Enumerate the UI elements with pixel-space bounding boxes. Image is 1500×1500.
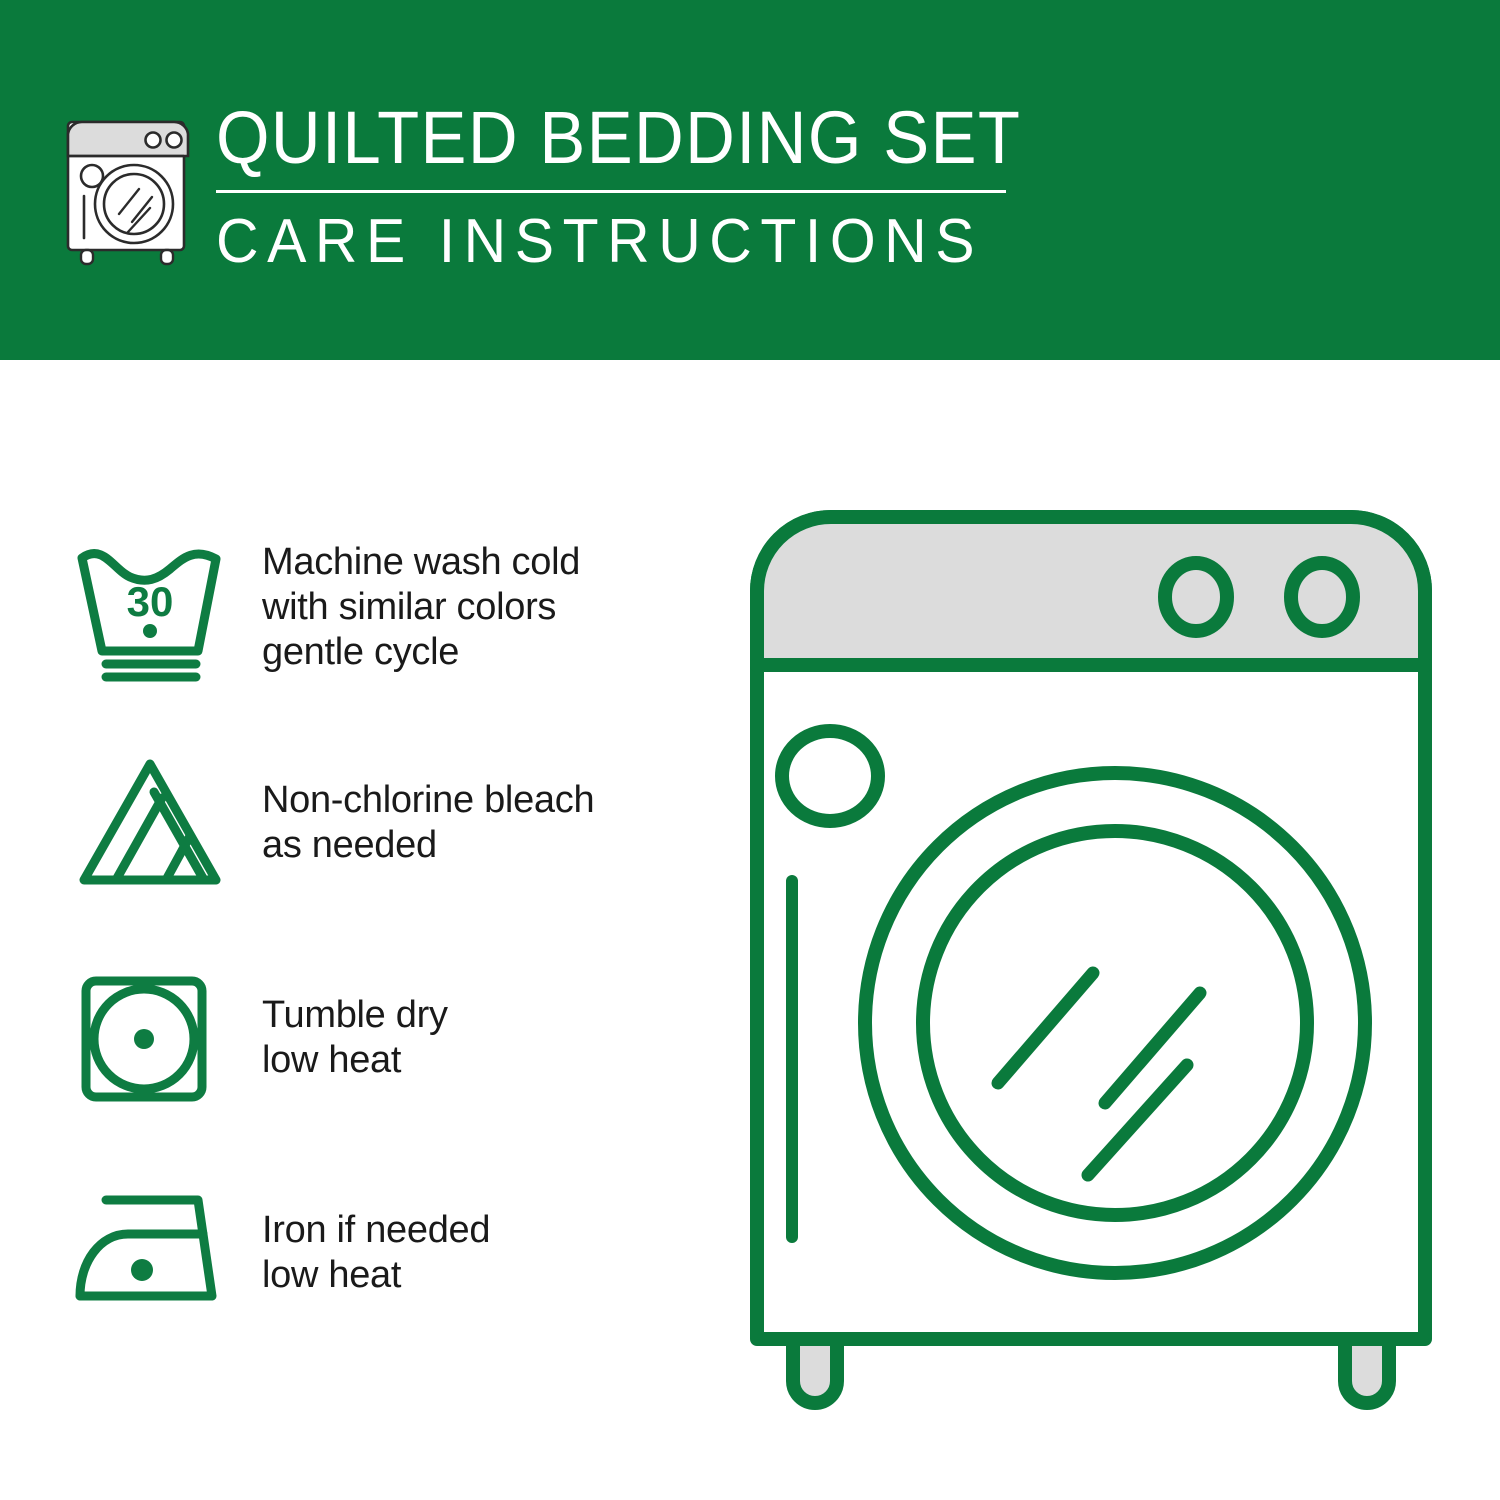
care-label-machine-wash: Machine wash cold with similar colors ge… bbox=[262, 540, 580, 675]
care-label-tumble-dry: Tumble dry low heat bbox=[262, 993, 448, 1083]
washing-machine-illustration bbox=[735, 495, 1455, 1435]
non-chlorine-bleach-triangle-icon bbox=[70, 740, 240, 905]
header-title-group: QUILTED BEDDING SET CARE INSTRUCTIONS bbox=[216, 98, 1082, 277]
header-content: QUILTED BEDDING SET CARE INSTRUCTIONS bbox=[62, 98, 1082, 277]
care-row-iron: Iron if needed low heat bbox=[70, 1145, 710, 1360]
care-row-bleach: Non-chlorine bleach as needed bbox=[70, 715, 710, 930]
wash-tub-30-gentle-icon: 30 bbox=[70, 525, 240, 690]
care-instruction-list: 30 Machine wash cold with similar colors… bbox=[70, 500, 710, 1360]
care-line: with similar colors bbox=[262, 585, 580, 630]
care-row-tumble-dry: Tumble dry low heat bbox=[70, 930, 710, 1145]
wash-temperature-value: 30 bbox=[127, 578, 174, 625]
tumble-dry-low-heat-icon bbox=[70, 955, 240, 1120]
washing-machine-icon bbox=[62, 104, 194, 266]
iron-low-heat-icon bbox=[70, 1170, 240, 1335]
care-line: as needed bbox=[262, 823, 594, 868]
care-line: gentle cycle bbox=[262, 630, 580, 675]
indicator-circle bbox=[782, 731, 878, 821]
care-line: Tumble dry bbox=[262, 993, 448, 1038]
door-inner-ring bbox=[923, 831, 1307, 1215]
care-line: Machine wash cold bbox=[262, 540, 580, 585]
care-line: low heat bbox=[262, 1038, 448, 1083]
care-line: Iron if needed bbox=[262, 1208, 490, 1253]
care-label-iron: Iron if needed low heat bbox=[262, 1208, 490, 1298]
care-row-machine-wash: 30 Machine wash cold with similar colors… bbox=[70, 500, 710, 715]
care-label-bleach: Non-chlorine bleach as needed bbox=[262, 778, 594, 868]
page-subtitle: CARE INSTRUCTIONS bbox=[216, 207, 1039, 277]
header-banner: QUILTED BEDDING SET CARE INSTRUCTIONS bbox=[0, 0, 1500, 360]
control-knob-right bbox=[1291, 563, 1353, 631]
care-line: Non-chlorine bleach bbox=[262, 778, 594, 823]
care-line: low heat bbox=[262, 1253, 490, 1298]
page-title: QUILTED BEDDING SET bbox=[216, 98, 1021, 178]
control-knob-left bbox=[1165, 563, 1227, 631]
title-divider bbox=[216, 190, 1006, 193]
